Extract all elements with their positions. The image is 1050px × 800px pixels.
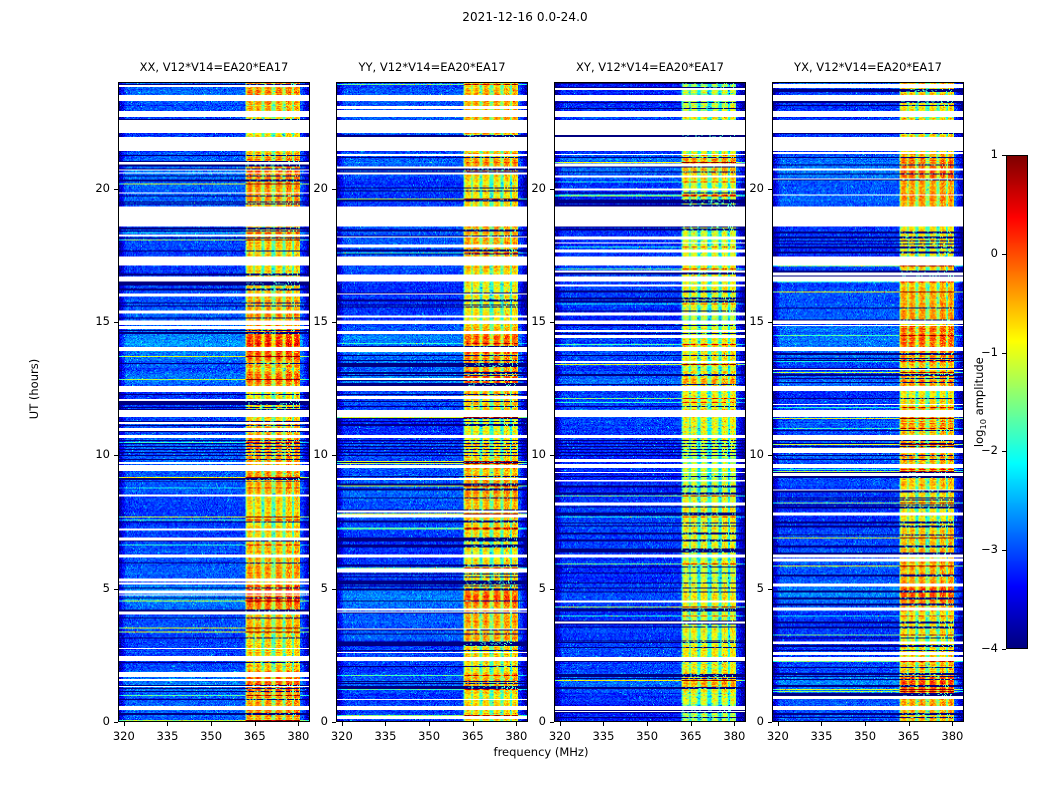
colorbar-tick-label: −3 (962, 542, 998, 556)
x-tick-mark (255, 722, 256, 726)
x-tick-mark (865, 722, 866, 726)
colorbar-tick-label: 0 (962, 246, 998, 260)
y-tick-mark (332, 189, 336, 190)
y-tick-label: 0 (70, 714, 110, 728)
x-tick-label: 335 (147, 729, 187, 743)
x-tick-label: 350 (845, 729, 885, 743)
colorbar-tick-mark (1002, 353, 1006, 354)
y-tick-mark (768, 322, 772, 323)
x-tick-mark (647, 722, 648, 726)
y-axis-label: UT (hours) (27, 329, 41, 449)
x-tick-label: 380 (714, 729, 754, 743)
y-tick-label: 20 (724, 181, 764, 195)
y-tick-label: 15 (724, 314, 764, 328)
colorbar-label: log10 amplitude (972, 342, 988, 462)
colorbar-tick-mark (1002, 254, 1006, 255)
x-tick-label: 320 (540, 729, 580, 743)
x-tick-label: 380 (278, 729, 318, 743)
spectrum-panel-xx[interactable] (118, 82, 310, 722)
x-tick-mark (342, 722, 343, 726)
spectrum-panel-yx[interactable] (772, 82, 964, 722)
figure-suptitle: 2021-12-16 0.0-24.0 (0, 10, 1050, 24)
y-tick-label: 15 (70, 314, 110, 328)
x-tick-label: 365 (889, 729, 929, 743)
panel-title-yx: YX, V12*V14=EA20*EA17 (772, 60, 964, 74)
spectrum-image-yx (773, 83, 963, 721)
spectrum-panel-yy[interactable] (336, 82, 528, 722)
spectrum-image-yy (337, 83, 527, 721)
x-tick-label: 365 (453, 729, 493, 743)
x-tick-label: 320 (104, 729, 144, 743)
colorbar-tick-mark (1002, 451, 1006, 452)
x-tick-label: 380 (932, 729, 972, 743)
spectrum-panel-xy[interactable] (554, 82, 746, 722)
x-tick-mark (778, 722, 779, 726)
x-tick-mark (473, 722, 474, 726)
figure-canvas: 2021-12-16 0.0-24.0 XX, V12*V14=EA20*EA1… (0, 0, 1050, 800)
y-tick-mark (114, 189, 118, 190)
x-tick-label: 350 (627, 729, 667, 743)
x-tick-mark (691, 722, 692, 726)
y-tick-mark (114, 722, 118, 723)
y-tick-label: 10 (70, 447, 110, 461)
x-tick-label: 365 (235, 729, 275, 743)
y-tick-mark (114, 455, 118, 456)
x-axis-label: frequency (MHz) (441, 745, 641, 759)
y-tick-mark (768, 722, 772, 723)
x-tick-mark (909, 722, 910, 726)
x-tick-mark (821, 722, 822, 726)
x-tick-mark (560, 722, 561, 726)
y-tick-label: 0 (288, 714, 328, 728)
y-tick-label: 10 (724, 447, 764, 461)
spectrum-image-xx (119, 83, 309, 721)
y-tick-mark (332, 322, 336, 323)
x-tick-mark (167, 722, 168, 726)
colorbar-tick-mark (1002, 649, 1006, 650)
y-tick-label: 10 (506, 447, 546, 461)
y-tick-label: 15 (288, 314, 328, 328)
x-tick-mark (385, 722, 386, 726)
x-tick-label: 335 (365, 729, 405, 743)
colorbar-tick-label: 1 (962, 147, 998, 161)
panel-title-xx: XX, V12*V14=EA20*EA17 (118, 60, 310, 74)
y-tick-label: 15 (506, 314, 546, 328)
x-tick-label: 380 (496, 729, 536, 743)
x-tick-mark (516, 722, 517, 726)
colorbar-label-text: log10 amplitude (972, 357, 986, 447)
y-tick-mark (550, 455, 554, 456)
y-tick-mark (332, 455, 336, 456)
y-tick-mark (114, 322, 118, 323)
x-tick-label: 350 (191, 729, 231, 743)
y-tick-mark (768, 189, 772, 190)
y-tick-mark (550, 189, 554, 190)
y-tick-mark (768, 589, 772, 590)
x-tick-mark (734, 722, 735, 726)
colorbar-tick-label: −4 (962, 641, 998, 655)
x-tick-label: 350 (409, 729, 449, 743)
y-tick-label: 20 (288, 181, 328, 195)
y-tick-label: 0 (506, 714, 546, 728)
y-tick-label: 0 (724, 714, 764, 728)
spectrum-image-xy (555, 83, 745, 721)
y-tick-mark (550, 589, 554, 590)
y-tick-label: 20 (506, 181, 546, 195)
y-tick-label: 5 (506, 581, 546, 595)
x-tick-label: 335 (801, 729, 841, 743)
x-tick-label: 335 (583, 729, 623, 743)
x-tick-mark (124, 722, 125, 726)
panel-title-yy: YY, V12*V14=EA20*EA17 (336, 60, 528, 74)
y-tick-mark (550, 322, 554, 323)
x-tick-label: 365 (671, 729, 711, 743)
x-tick-mark (429, 722, 430, 726)
colorbar-tick-mark (1002, 550, 1006, 551)
x-tick-label: 320 (322, 729, 362, 743)
x-tick-mark (603, 722, 604, 726)
y-tick-label: 5 (288, 581, 328, 595)
y-tick-label: 5 (70, 581, 110, 595)
colorbar[interactable] (1006, 155, 1028, 649)
y-tick-label: 20 (70, 181, 110, 195)
x-tick-mark (298, 722, 299, 726)
y-tick-mark (332, 722, 336, 723)
y-tick-mark (768, 455, 772, 456)
y-tick-mark (332, 589, 336, 590)
x-tick-label: 320 (758, 729, 798, 743)
panel-title-xy: XY, V12*V14=EA20*EA17 (554, 60, 746, 74)
x-tick-mark (211, 722, 212, 726)
colorbar-tick-mark (1002, 155, 1006, 156)
y-tick-label: 10 (288, 447, 328, 461)
colorbar-gradient (1007, 156, 1027, 648)
y-tick-label: 5 (724, 581, 764, 595)
x-tick-mark (952, 722, 953, 726)
y-tick-mark (550, 722, 554, 723)
y-tick-mark (114, 589, 118, 590)
